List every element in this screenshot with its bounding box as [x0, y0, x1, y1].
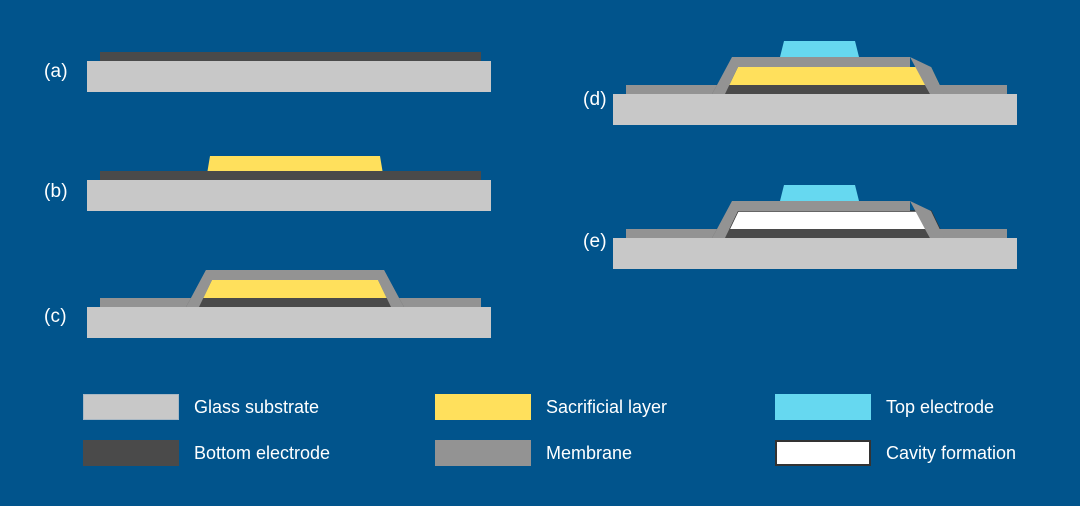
legend-label-membrane: Membrane	[546, 444, 632, 462]
membrane-top-plate	[732, 201, 910, 211]
membrane-wing-right	[399, 298, 481, 307]
legend-item-glass-substrate: Glass substrate	[83, 394, 319, 420]
membrane-wing-left	[626, 229, 717, 238]
panel-b-cross-section	[36, 140, 506, 215]
process-panel-b: (b)	[36, 140, 506, 215]
process-panel-e: (e)	[575, 175, 1045, 270]
process-panel-c: (c)	[36, 255, 506, 340]
legend-item-membrane: Membrane	[435, 440, 632, 466]
legend-item-sacrificial-layer: Sacrificial layer	[435, 394, 667, 420]
legend-item-bottom-electrode: Bottom electrode	[83, 440, 330, 466]
glass-substrate-layer	[87, 180, 491, 211]
process-flow-figure: (a) (b) (c)	[0, 0, 1080, 506]
legend-label-top-electrode: Top electrode	[886, 398, 994, 416]
panel-d-cross-section	[575, 28, 1045, 128]
legend-swatch-glass-substrate	[83, 394, 179, 420]
panel-a-cross-section	[36, 34, 506, 104]
legend-item-cavity-formation: Cavity formation	[775, 440, 1016, 466]
legend: Glass substrate Bottom electrode Sacrifi…	[83, 394, 1023, 474]
panel-c-cross-section	[36, 255, 506, 340]
membrane-top-plate	[732, 57, 910, 67]
legend-label-glass-substrate: Glass substrate	[194, 398, 319, 416]
membrane-wing-left	[100, 298, 191, 307]
top-electrode-layer	[780, 41, 859, 57]
legend-swatch-sacrificial-layer	[435, 394, 531, 420]
legend-label-bottom-electrode: Bottom electrode	[194, 444, 330, 462]
glass-substrate-layer	[87, 61, 491, 92]
membrane-wing-left	[626, 85, 717, 94]
glass-substrate-layer	[613, 238, 1017, 269]
top-electrode-layer	[780, 185, 859, 201]
legend-label-sacrificial-layer: Sacrificial layer	[546, 398, 667, 416]
bottom-electrode-layer	[100, 171, 481, 180]
legend-swatch-membrane	[435, 440, 531, 466]
process-panel-d: (d)	[575, 28, 1045, 128]
legend-swatch-cavity-formation	[775, 440, 871, 466]
membrane-top-plate	[206, 270, 384, 280]
legend-swatch-top-electrode	[775, 394, 871, 420]
process-panel-a: (a)	[36, 34, 506, 104]
legend-item-top-electrode: Top electrode	[775, 394, 994, 420]
glass-substrate-layer	[87, 307, 491, 338]
bottom-electrode-layer	[100, 52, 481, 61]
panel-e-cross-section	[575, 175, 1045, 270]
legend-label-cavity-formation: Cavity formation	[886, 444, 1016, 462]
glass-substrate-layer	[613, 94, 1017, 125]
legend-swatch-bottom-electrode	[83, 440, 179, 466]
